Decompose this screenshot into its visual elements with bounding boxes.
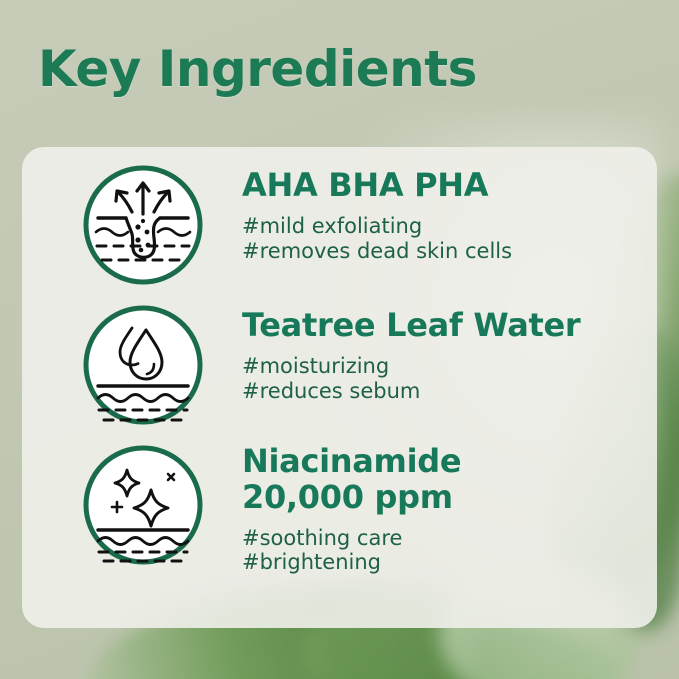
list-item: AHA BHA PHA #mild exfoliating #removes d… xyxy=(22,162,657,288)
ingredient-text: Niacinamide 20,000 ppm #soothing care #b… xyxy=(242,442,461,575)
ingredient-name: Teatree Leaf Water xyxy=(242,308,580,344)
list-item: Niacinamide 20,000 ppm #soothing care #b… xyxy=(22,442,657,575)
list-item: Teatree Leaf Water #moisturizing #reduce… xyxy=(22,302,657,428)
ingredient-tag: #moisturizing xyxy=(242,354,580,379)
ingredient-tag: #soothing care xyxy=(242,526,461,551)
ingredients-list: AHA BHA PHA #mild exfoliating #removes d… xyxy=(22,147,657,628)
ingredient-tag: #mild exfoliating xyxy=(242,214,512,239)
ingredient-tag: #brightening xyxy=(242,550,461,575)
ingredient-name: AHA BHA PHA xyxy=(242,168,512,204)
ingredient-name: Niacinamide 20,000 ppm xyxy=(242,444,461,516)
ingredient-name-line1: Niacinamide xyxy=(242,442,461,480)
pore-exfoliation-icon xyxy=(80,162,206,288)
ingredient-tags: #soothing care #brightening xyxy=(242,526,461,576)
page-title: Key Ingredients xyxy=(38,40,477,98)
ingredient-name-line2: 20,000 ppm xyxy=(242,478,453,516)
ingredient-tag: #reduces sebum xyxy=(242,379,580,404)
ingredient-text: Teatree Leaf Water #moisturizing #reduce… xyxy=(242,302,580,403)
ingredient-tags: #mild exfoliating #removes dead skin cel… xyxy=(242,214,512,264)
sparkle-brightening-icon xyxy=(80,442,206,568)
ingredient-text: AHA BHA PHA #mild exfoliating #removes d… xyxy=(242,162,512,263)
infographic-canvas: Key Ingredients xyxy=(0,0,679,679)
ingredient-tag: #removes dead skin cells xyxy=(242,239,512,264)
water-droplet-icon xyxy=(80,302,206,428)
ingredient-tags: #moisturizing #reduces sebum xyxy=(242,354,580,404)
